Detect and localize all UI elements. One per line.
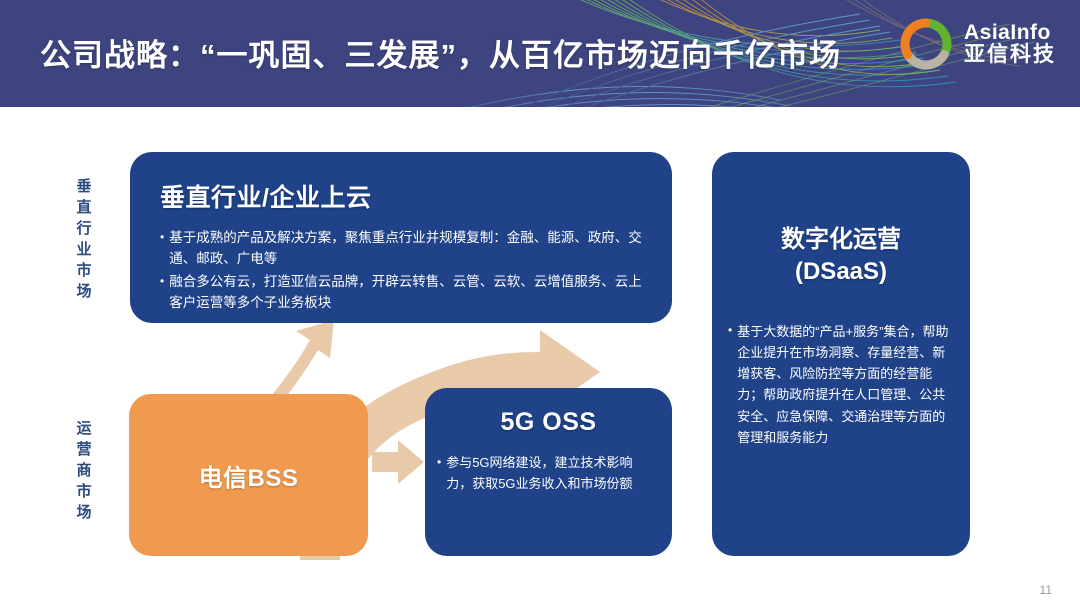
- bullet-dot-icon: •: [437, 453, 441, 495]
- card-dsaas-title-line1: 数字化运营: [712, 224, 970, 256]
- label-operator-market: 运营商市场: [74, 420, 91, 525]
- card-telecom-bss-title: 电信BSS: [199, 458, 299, 493]
- label-vertical-industry-market: 垂直行业市场: [74, 178, 91, 304]
- card-dsaas-title: 数字化运营 (DSaaS): [712, 224, 970, 287]
- asiainfo-ring-icon: [898, 16, 954, 72]
- slide: 公司战略：“一巩固、三发展”，从百亿市场迈向千亿市场 AsiaInfo 亚信科技…: [0, 0, 1080, 607]
- slide-header: 公司战略：“一巩固、三发展”，从百亿市场迈向千亿市场 AsiaInfo 亚信科技: [0, 0, 1080, 107]
- card-5g-oss-title: 5G OSS: [425, 408, 672, 437]
- card-dsaas-title-line2: (DSaaS): [712, 256, 970, 288]
- bullet-item: • 融合多公有云，打造亚信云品牌，开辟云转售、云管、云软、云增值服务、云上客户运…: [160, 272, 648, 314]
- bullet-text: 融合多公有云，打造亚信云品牌，开辟云转售、云管、云软、云增值服务、云上客户运营等…: [169, 272, 648, 314]
- card-telecom-bss[interactable]: 电信BSS: [129, 394, 368, 556]
- page-title: 公司战略：“一巩固、三发展”，从百亿市场迈向千亿市场: [40, 30, 841, 75]
- card-vertical-industry-bullets: • 基于成熟的产品及解决方案，聚焦重点行业并规模复制：金融、能源、政府、交通、邮…: [160, 228, 648, 314]
- bullet-dot-icon: •: [160, 272, 164, 314]
- logo-text-en: AsiaInfo: [964, 22, 1056, 44]
- page-number: 11: [1040, 583, 1052, 597]
- bullet-text: 基于大数据的“产品+服务”集合，帮助企业提升在市场洞察、存量经营、新增获客、风险…: [737, 321, 952, 447]
- bullet-item: • 参与5G网络建设，建立技术影响力，获取5G业务收入和市场份额: [437, 453, 656, 495]
- arrow-bss-to-5goss: [372, 440, 424, 484]
- card-vertical-industry-title: 垂直行业/企业上云: [160, 178, 648, 214]
- bullet-dot-icon: •: [160, 228, 164, 270]
- brand-logo: AsiaInfo 亚信科技: [898, 16, 1056, 72]
- bullet-text: 参与5G网络建设，建立技术影响力，获取5G业务收入和市场份额: [446, 453, 656, 495]
- bullet-item: • 基于大数据的“产品+服务”集合，帮助企业提升在市场洞察、存量经营、新增获客、…: [728, 321, 952, 447]
- card-5g-oss[interactable]: 5G OSS • 参与5G网络建设，建立技术影响力，获取5G业务收入和市场份额: [425, 388, 672, 556]
- bullet-item: • 基于成熟的产品及解决方案，聚焦重点行业并规模复制：金融、能源、政府、交通、邮…: [160, 228, 648, 270]
- card-vertical-industry[interactable]: 垂直行业/企业上云 • 基于成熟的产品及解决方案，聚焦重点行业并规模复制：金融、…: [130, 152, 672, 323]
- card-dsaas[interactable]: 数字化运营 (DSaaS) • 基于大数据的“产品+服务”集合，帮助企业提升在市…: [712, 152, 970, 556]
- logo-text-cn: 亚信科技: [964, 44, 1056, 66]
- card-dsaas-bullets: • 基于大数据的“产品+服务”集合，帮助企业提升在市场洞察、存量经营、新增获客、…: [728, 321, 952, 447]
- bullet-dot-icon: •: [728, 321, 732, 447]
- bullet-text: 基于成熟的产品及解决方案，聚焦重点行业并规模复制：金融、能源、政府、交通、邮政、…: [169, 228, 648, 270]
- card-5g-oss-bullets: • 参与5G网络建设，建立技术影响力，获取5G业务收入和市场份额: [437, 453, 656, 495]
